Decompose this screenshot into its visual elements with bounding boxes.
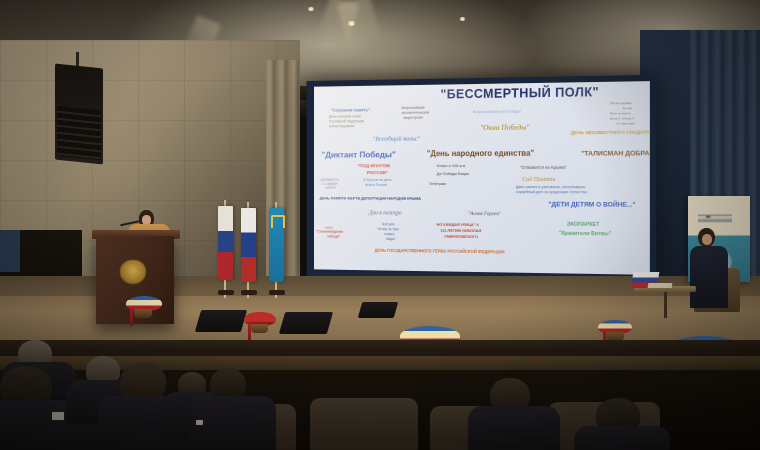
slide-text-item: главен [384,233,394,236]
slide-text-item: "Диктант Победы" [321,150,395,159]
slide-text-item: НО КАЖДАЯ УЛИЦА" К [437,224,479,228]
slide-text-item: Да Победы Бацас [437,172,470,176]
flag-crimea [218,206,233,280]
slide-text-item: Мира" [386,238,395,241]
slide-text-item: "Хранители Битвы" [559,232,612,238]
slide-text-item: Всё для [382,223,394,226]
slide-text-item: ДЕНЬ ГОСУДАРСТВЕННОГО ГЕРБА РОССИЙСКОЙ Ф… [375,249,505,255]
audience-collar [196,420,203,425]
slide-text-item: акция-проект [403,117,423,121]
guest-head [698,228,715,247]
coat-of-arms-emblem [120,260,146,284]
projection-screen: "БЕССМЕРТНЫЙ ПОЛК" "Сохраним память"День… [314,81,650,275]
slide-text-item: РОССИИ" [367,171,388,176]
slide-text-item: "Сохраним память" [331,108,370,113]
slide-text-item: Телеграм [429,182,446,186]
flag-crimean-tatar [269,208,284,282]
slide-text-item: Флаги и 100-я в [437,164,466,168]
stage-monitor [279,312,333,334]
bouquet-basket [134,309,152,318]
slide-text-item: ГАВРИЛОВСКОГО [444,236,478,240]
slide-text-item: "ПОД ФЛАГОМ [357,164,389,169]
slide-text-item: "Всеобщий вальс" [373,136,420,143]
audience-seat [310,398,418,450]
flag-base [241,290,257,295]
slide-text-item: 2%-ая годовая [610,102,631,105]
stage-monitor [195,310,247,332]
projection-screen-frame: "БЕССМЕРТНЫЙ ПОЛК" "Сохраним память"День… [307,75,657,283]
desk-papers [648,283,673,288]
ceiling-spotlight [459,17,466,21]
slide-text-item: "Окна Победы" [480,123,530,131]
flag-base [218,290,234,295]
slide-text-item: 111-ЛЕТИЮ НИКОЛАЯ [440,230,481,234]
banner-logo-icon [698,208,732,230]
bouquet-basket [251,324,268,333]
slide-text-item: "Аллея Героев" [468,212,501,217]
slide-text-item: ДЕНЬ НЕИЗВЕСТНОГО СОЛДАТА [571,131,650,136]
bouquet-ribbon [130,308,133,326]
table-leg [664,292,667,318]
slide-text-item: служебный долг за пределами Отечества [516,191,587,195]
flag-russia [241,208,256,282]
ceiling-spotlight [307,7,315,11]
line-array-speaker [55,63,103,164]
guest-face [702,234,712,245]
slide-text-item: "ДЕТИ ДЕТЯМ О ВОЙНЕ..." [548,202,635,209]
seated-guest [690,246,728,308]
audience-shoulders [468,406,560,450]
slide-content: "БЕССМЕРТНЫЙ ПОЛК" "Сохраним память"День… [314,81,650,275]
stage-monitor [358,302,399,318]
slide-text-item: флага России [365,184,387,188]
slide-text-item: "День народного единства" [427,150,534,158]
slide-text-item: Всероссийский урок Победы [473,110,521,114]
slide-text-item: МАТЕЙ [325,187,335,190]
slide-text-item: 4 с чём-либо [616,122,635,125]
tamga-symbol [271,215,285,228]
slide-text-item: За нас [623,107,633,110]
audience-shoulders [574,426,670,450]
audience-collar [52,412,64,420]
flag-base [269,290,285,295]
slide-text-item: Сад Памяти [522,177,555,183]
slide-text-item: Белый Журавлик [329,125,354,129]
slide-text-item: Дни в театре [369,211,402,217]
alcove-blue-panel [0,230,20,272]
slide-text-item: победа" [327,235,340,238]
slide-text-item: ЭКОПАРКЕТ [567,223,600,229]
slide-text-item: "ТАЛИСМАН ДОБРА" [581,151,650,158]
conference-hall-photo: "БЕССМЕРТНЫЙ ПОЛК" "Сохраним память"День… [0,0,760,450]
slide-text-item: ДЕНЬ ПАМЯТИ ЖЕРТВ ДЕПОРТАЦИИ НАРОДОВ КРЫ… [320,197,421,201]
slide-text-item: Роль за месте [610,112,631,115]
slide-text-item: "Чтобы не был [377,228,399,232]
slide-headline: "БЕССМЕРТНЫЙ ПОЛК" [440,86,599,101]
slide-text-item: Блок 3 - Блока 4 [610,117,634,120]
slide-text-item: "Отважится из Крыма" [520,166,566,171]
